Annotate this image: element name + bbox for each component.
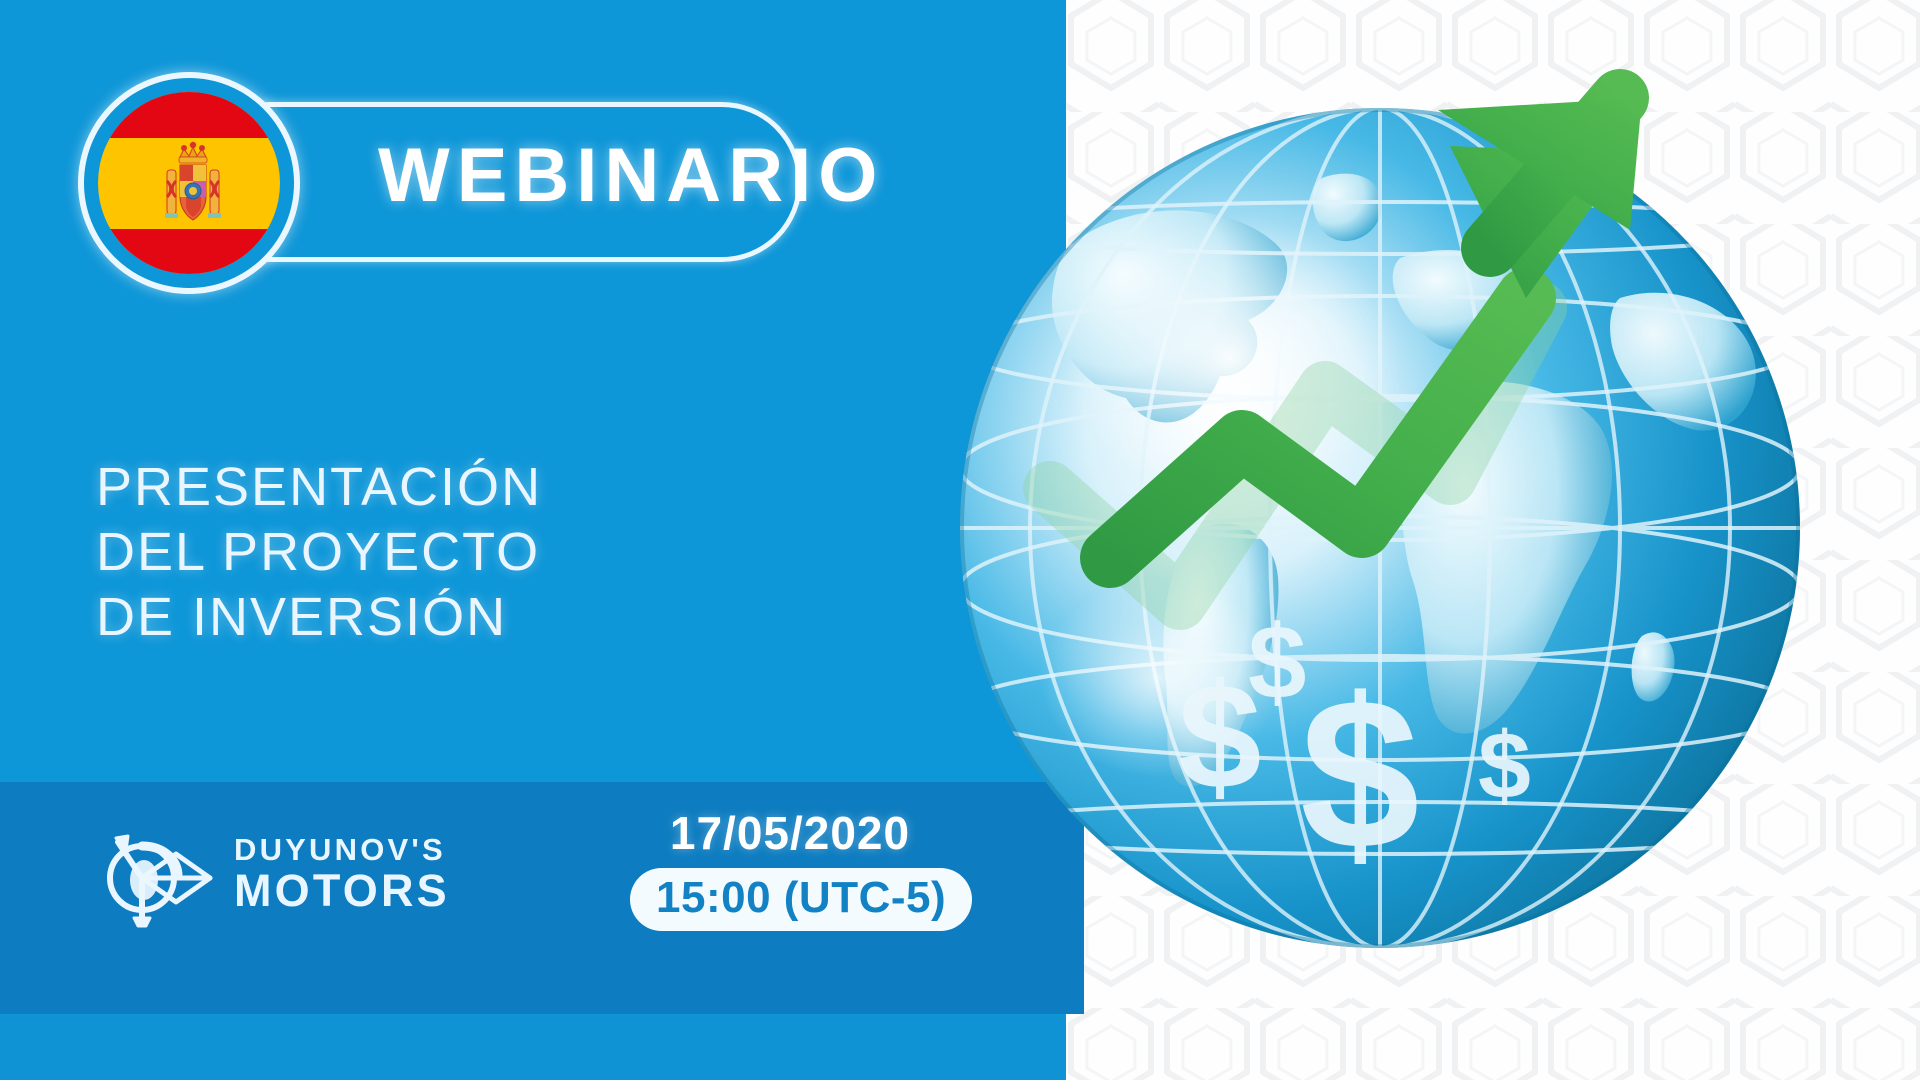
- headline-line-2: DEL PROYECTO: [96, 520, 542, 585]
- dollar-sign-icon: $: [1300, 653, 1420, 894]
- duyunov-motors-logo: DUYUNOV'S MOTORS: [98, 818, 450, 928]
- headline-line-1: PRESENTACIÓN: [96, 455, 542, 520]
- duyunov-motors-emblem-icon: [98, 818, 218, 928]
- dollar-sign-icon: $: [1478, 713, 1531, 819]
- emblem-eye: [130, 860, 158, 900]
- headline-block: PRESENTACIÓN DEL PROYECTO DE INVERSIÓN: [96, 455, 542, 649]
- webinar-badge-row: WEBINARIO: [78, 72, 818, 294]
- logo-line-2: MOTORS: [234, 868, 450, 913]
- flag-inner: [98, 92, 280, 274]
- webinario-label: WEBINARIO: [378, 138, 884, 214]
- spain-flag-icon: [78, 72, 300, 294]
- dollar-sign-icon: $: [1248, 604, 1306, 721]
- headline-line-3: DE INVERSIÓN: [96, 585, 542, 650]
- bottom-blue-strip: [0, 1015, 1066, 1080]
- event-date: 17/05/2020: [630, 810, 950, 856]
- spain-coat-of-arms-icon: [156, 137, 230, 229]
- flag-band-top: [98, 92, 280, 138]
- webinar-promo-banner: $ $ $ $ WEBINARIO: [0, 0, 1920, 1080]
- logo-line-1: DUYUNOV'S: [234, 834, 450, 865]
- globe-graphic: $ $ $ $: [930, 58, 1830, 998]
- event-datetime-block: 17/05/2020 15:00 (UTC-5): [630, 810, 950, 931]
- event-time-badge: 15:00 (UTC-5): [630, 868, 972, 931]
- flag-band-bottom: [98, 229, 280, 275]
- logo-wordmark: DUYUNOV'S MOTORS: [234, 834, 450, 913]
